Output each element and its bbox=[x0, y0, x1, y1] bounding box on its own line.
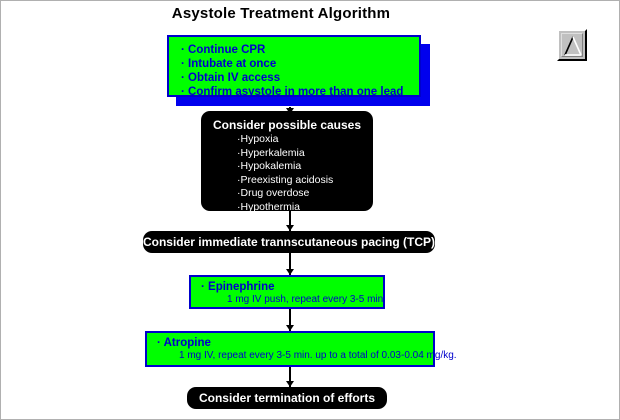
node-epinephrine[interactable]: · Epinephrine 1 mg IV push, repeat every… bbox=[189, 275, 385, 309]
possible-causes-title: Consider possible causes bbox=[201, 118, 373, 133]
termination-label: Consider termination of efforts bbox=[199, 391, 375, 405]
bullet-icon: · bbox=[201, 281, 205, 293]
page-title: Asystole Treatment Algorithm bbox=[1, 5, 561, 22]
tool-button-face bbox=[561, 33, 583, 57]
initial-action-item-2: · Intubate at once bbox=[181, 57, 419, 71]
node-possible-causes[interactable]: Consider possible causes ·Hypoxia ·Hyper… bbox=[201, 111, 373, 211]
draw-triangle-tool-button[interactable] bbox=[557, 29, 587, 61]
atropine-detail: 1 mg IV, repeat every 3-5 min. up to a t… bbox=[157, 350, 433, 362]
node-initial-actions[interactable]: · Continue CPR · Intubate at once · Obta… bbox=[167, 35, 421, 97]
tcp-pacing-label: Consider immediate trannscutaneous pacin… bbox=[143, 235, 435, 249]
bullet-icon: · bbox=[157, 337, 161, 349]
bullet-icon: · bbox=[181, 86, 185, 98]
bullet-icon: · bbox=[181, 44, 185, 56]
bullet-icon: · bbox=[181, 58, 185, 70]
initial-action-item-4: · Confirm asystole in more than one lead bbox=[181, 85, 419, 99]
initial-action-item-3: · Obtain IV access bbox=[181, 71, 419, 85]
cause-item-2: ·Hyperkalemia bbox=[237, 147, 373, 161]
cause-item-5: ·Drug overdose bbox=[237, 187, 373, 201]
node-termination[interactable]: Consider termination of efforts bbox=[187, 387, 387, 409]
flowchart-canvas: Asystole Treatment Algorithm · Continue … bbox=[0, 0, 620, 420]
cause-item-1: ·Hypoxia bbox=[237, 133, 373, 147]
atropine-title: · Atropine bbox=[157, 337, 433, 350]
epinephrine-detail: 1 mg IV push, repeat every 3-5 min. bbox=[201, 294, 383, 306]
bullet-icon: · bbox=[181, 72, 185, 84]
cause-item-6: ·Hypothermia bbox=[237, 201, 373, 215]
node-atropine[interactable]: · Atropine 1 mg IV, repeat every 3-5 min… bbox=[145, 331, 435, 367]
node-tcp-pacing[interactable]: Consider immediate trannscutaneous pacin… bbox=[143, 231, 435, 253]
epinephrine-title: · Epinephrine bbox=[201, 281, 383, 294]
triangle-icon bbox=[562, 34, 584, 58]
cause-item-3: ·Hypokalemia bbox=[237, 160, 373, 174]
initial-action-item-1: · Continue CPR bbox=[181, 43, 419, 57]
cause-item-4: ·Preexisting acidosis bbox=[237, 174, 373, 188]
